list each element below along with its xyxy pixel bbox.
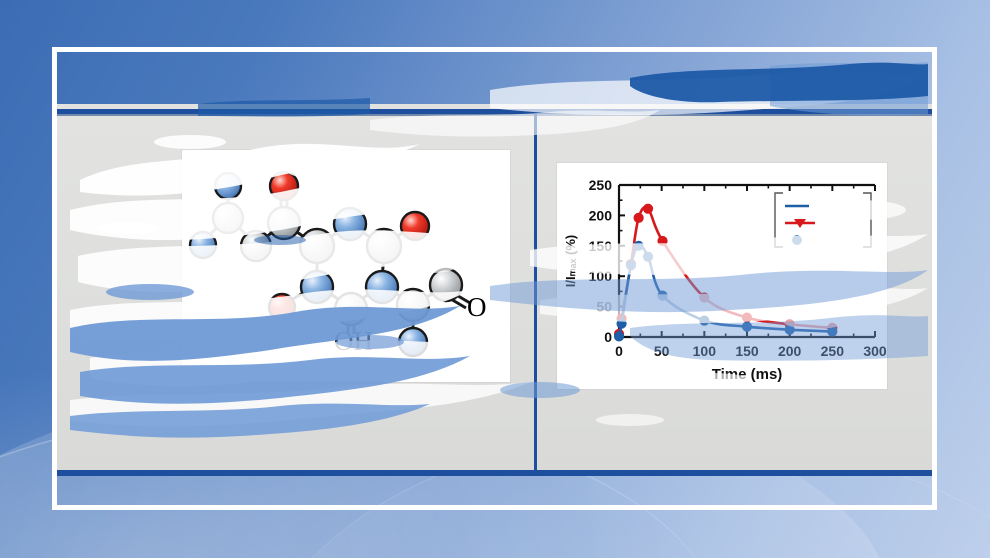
slide-canvas: OH O 050100150200250300050100150200250Ti… bbox=[0, 0, 990, 558]
slide-frame-border bbox=[52, 47, 937, 510]
